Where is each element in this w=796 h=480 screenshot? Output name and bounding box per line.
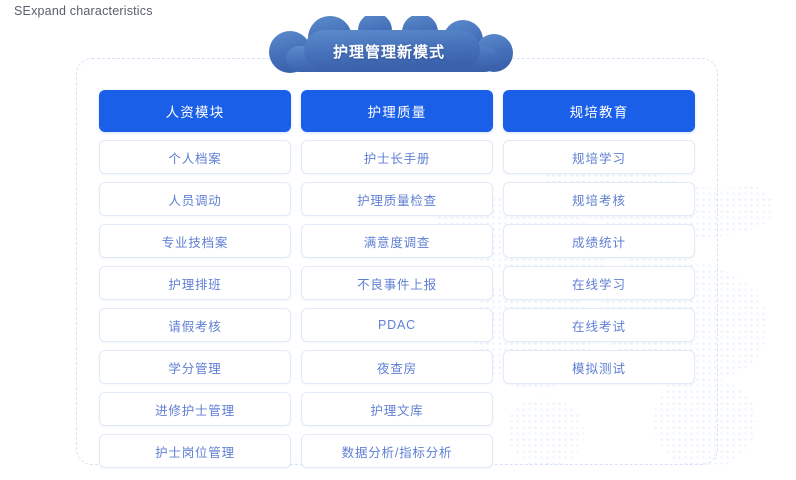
cloud-banner: 护理管理新模式	[244, 16, 534, 74]
list-item[interactable]: 规培学习	[503, 140, 695, 174]
list-item[interactable]: 学分管理	[99, 350, 291, 384]
column-items-quality: 护士长手册 护理质量检查 满意度调查 不良事件上报 PDAC 夜查房 护理文库 …	[301, 140, 493, 468]
list-item[interactable]: 数据分析/指标分析	[301, 434, 493, 468]
list-item[interactable]: PDAC	[301, 308, 493, 342]
list-item[interactable]: 护理文库	[301, 392, 493, 426]
list-item[interactable]: 满意度调查	[301, 224, 493, 258]
column-header-quality[interactable]: 护理质量	[301, 90, 493, 132]
list-item[interactable]: 不良事件上报	[301, 266, 493, 300]
list-item[interactable]: 护士长手册	[301, 140, 493, 174]
list-item[interactable]: 在线学习	[503, 266, 695, 300]
list-item[interactable]: 个人档案	[99, 140, 291, 174]
column-hr: 人资模块 个人档案 人员调动 专业技档案 护理排班 请假考核 学分管理 进修护士…	[99, 90, 291, 468]
list-item[interactable]: 夜查房	[301, 350, 493, 384]
page-title: SExpand characteristics	[14, 4, 153, 18]
list-item[interactable]: 成绩统计	[503, 224, 695, 258]
column-items-training: 规培学习 规培考核 成绩统计 在线学习 在线考试 模拟测试	[503, 140, 695, 384]
list-item[interactable]: 规培考核	[503, 182, 695, 216]
list-item[interactable]: 专业技档案	[99, 224, 291, 258]
list-item[interactable]: 护理排班	[99, 266, 291, 300]
list-item[interactable]: 护士岗位管理	[99, 434, 291, 468]
list-item[interactable]: 护理质量检查	[301, 182, 493, 216]
modules-columns: 人资模块 个人档案 人员调动 专业技档案 护理排班 请假考核 学分管理 进修护士…	[99, 90, 697, 468]
column-quality: 护理质量 护士长手册 护理质量检查 满意度调查 不良事件上报 PDAC 夜查房 …	[301, 90, 493, 468]
list-item[interactable]: 人员调动	[99, 182, 291, 216]
list-item[interactable]: 模拟测试	[503, 350, 695, 384]
column-header-training[interactable]: 规培教育	[503, 90, 695, 132]
column-header-hr[interactable]: 人资模块	[99, 90, 291, 132]
list-item[interactable]: 请假考核	[99, 308, 291, 342]
list-item[interactable]: 进修护士管理	[99, 392, 291, 426]
column-training: 规培教育 规培学习 规培考核 成绩统计 在线学习 在线考试 模拟测试	[503, 90, 695, 468]
list-item[interactable]: 在线考试	[503, 308, 695, 342]
banner-title: 护理管理新模式	[244, 16, 534, 74]
column-items-hr: 个人档案 人员调动 专业技档案 护理排班 请假考核 学分管理 进修护士管理 护士…	[99, 140, 291, 468]
